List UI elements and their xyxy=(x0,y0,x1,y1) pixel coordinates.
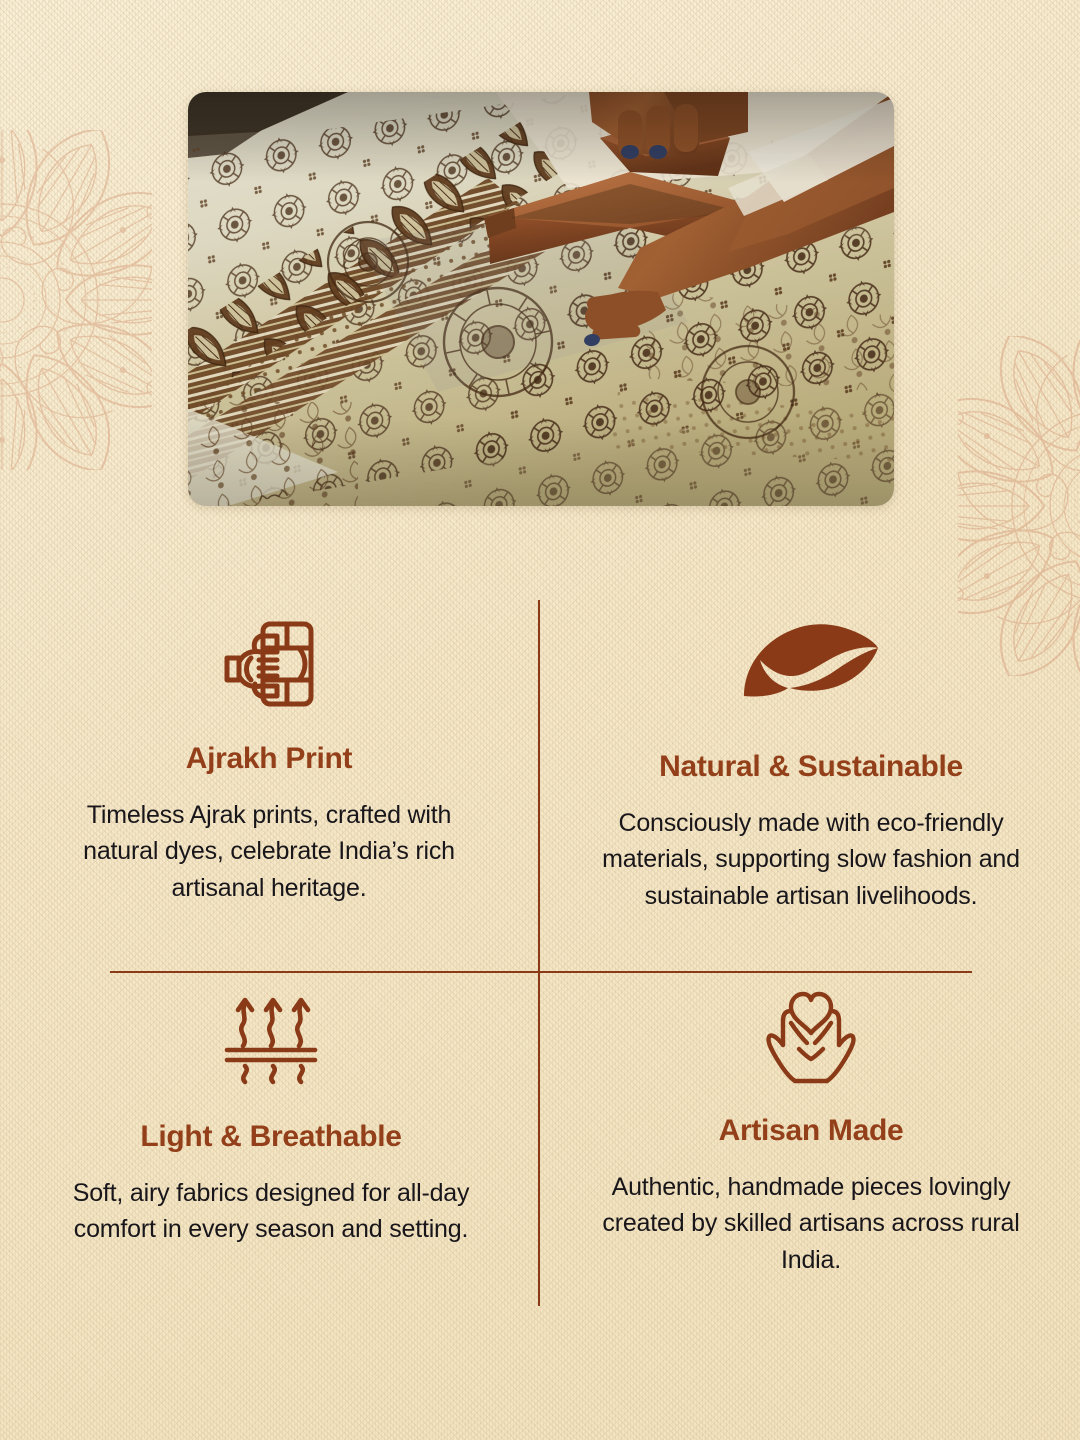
block-printing-photo-graphic xyxy=(188,92,894,506)
feature-description: Consciously made with eco-friendly mater… xyxy=(598,805,1024,914)
feature-description: Authentic, handmade pieces lovingly crea… xyxy=(598,1169,1024,1278)
leaf-icon xyxy=(740,608,882,712)
feature-description: Soft, airy fabrics designed for all-day … xyxy=(46,1175,496,1248)
feature-grid: Ajrakh Print Timeless Ajrak prints, craf… xyxy=(0,600,1080,1320)
feature-title: Light & Breathable xyxy=(140,1120,401,1153)
feature-title: Ajrakh Print xyxy=(186,742,352,775)
feature-card-artisan-made: Artisan Made Authentic, handmade pieces … xyxy=(538,972,1080,1320)
block-printing-photo xyxy=(188,92,894,506)
feature-card-ajrakh-print: Ajrakh Print Timeless Ajrak prints, craf… xyxy=(0,600,538,972)
feature-description: Timeless Ajrak prints, crafted with natu… xyxy=(46,797,492,906)
feature-card-light-breathable: Light & Breathable Soft, airy fabrics de… xyxy=(0,972,538,1320)
breathable-airflow-icon xyxy=(221,986,321,1090)
hands-holding-heart-icon xyxy=(761,986,861,1090)
feature-title: Artisan Made xyxy=(719,1114,904,1147)
feature-title: Natural & Sustainable xyxy=(659,750,963,783)
feature-card-natural-sustainable: Natural & Sustainable Consciously made w… xyxy=(538,600,1080,972)
block-print-hand-icon xyxy=(221,612,317,716)
mandala-left-decoration xyxy=(0,130,152,470)
poster-canvas: Ajrakh Print Timeless Ajrak prints, craf… xyxy=(0,0,1080,1440)
